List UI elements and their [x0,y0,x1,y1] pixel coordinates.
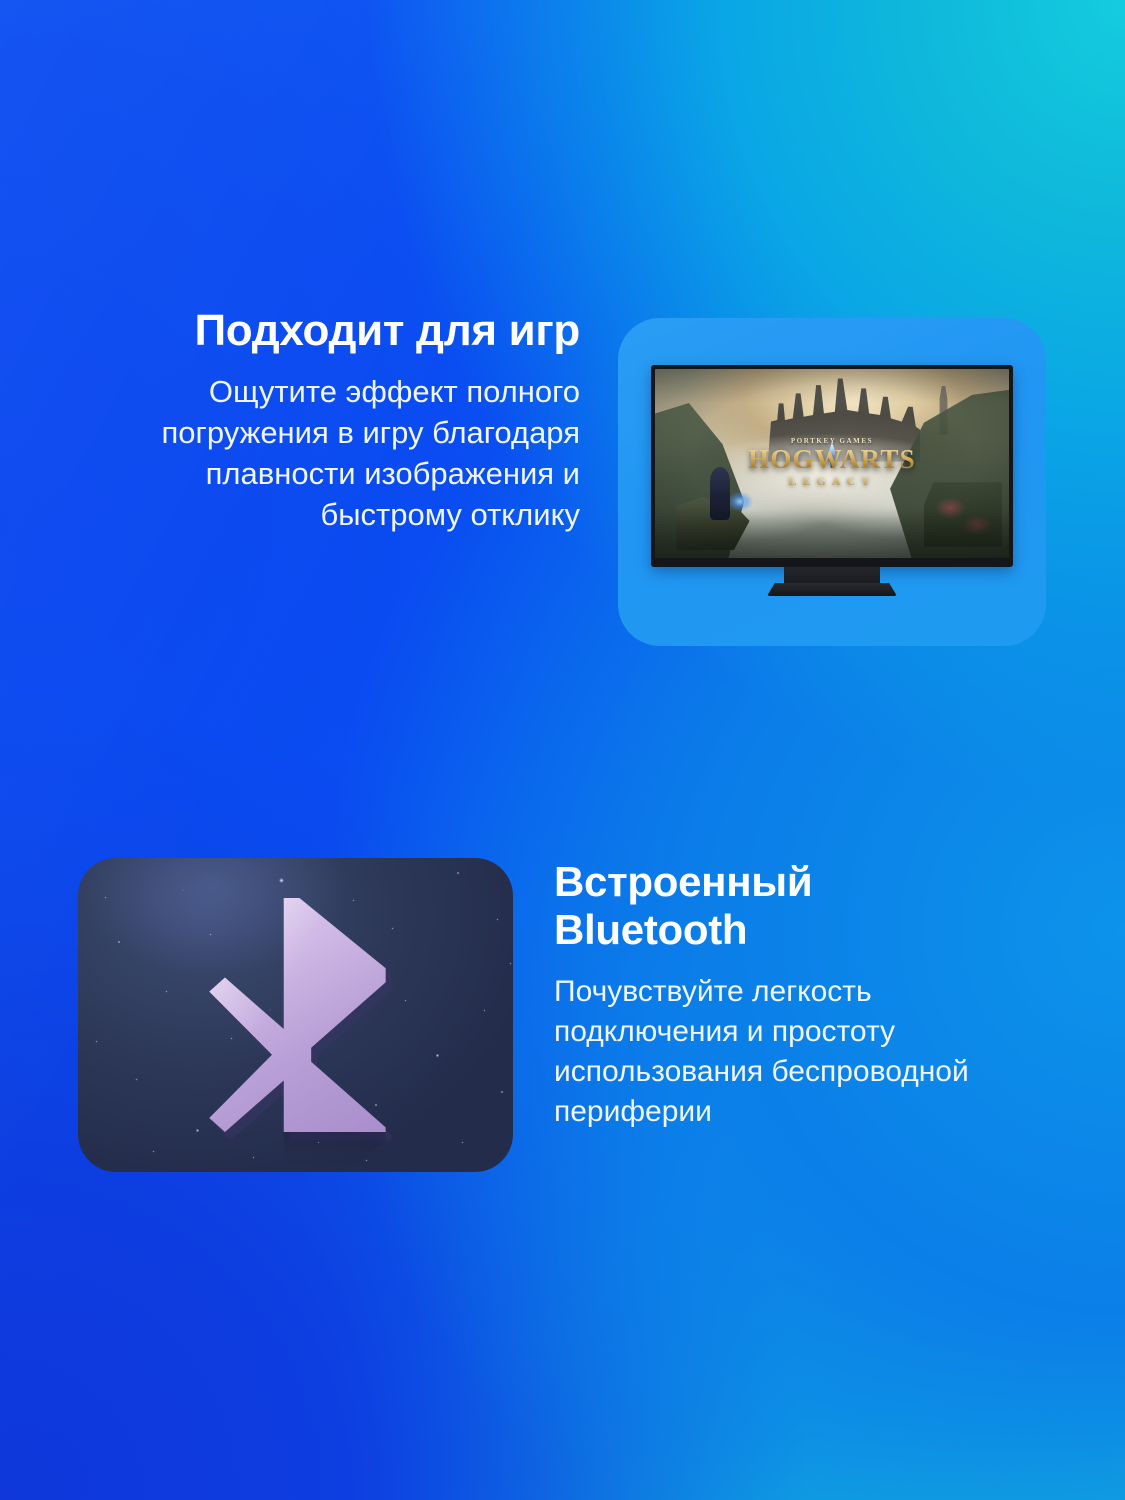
bluetooth-feature-title-line2: Bluetooth [554,906,1014,954]
keyart-vignette [655,369,1009,558]
tv-device: PORTKEY GAMES HOGWARTS LEGACY [651,365,1013,567]
gaming-feature-description: Ощутите эффект полного погружения в игру… [110,371,580,535]
background-sheen-overlay [0,0,1125,1500]
bluetooth-card [78,858,513,1172]
bluetooth-feature-description: Почувствуйте легкость подключения и прос… [554,972,1014,1132]
tv-bezel: PORTKEY GAMES HOGWARTS LEGACY [651,365,1013,567]
bluetooth-feature-text: Встроенный Bluetooth Почувствуйте легкос… [554,858,1014,1132]
tv-screen: PORTKEY GAMES HOGWARTS LEGACY [655,369,1009,558]
tv-stand-base [767,583,897,596]
gaming-feature-text: Подходит для игр Ощутите эффект полного … [110,306,580,535]
bluetooth-icon [198,898,394,1132]
tv-card: PORTKEY GAMES HOGWARTS LEGACY [618,318,1046,646]
gaming-feature-title: Подходит для игр [110,306,580,356]
bluetooth-icon-highlight [198,898,394,1132]
bluetooth-feature-title-line1: Встроенный [554,858,1014,906]
